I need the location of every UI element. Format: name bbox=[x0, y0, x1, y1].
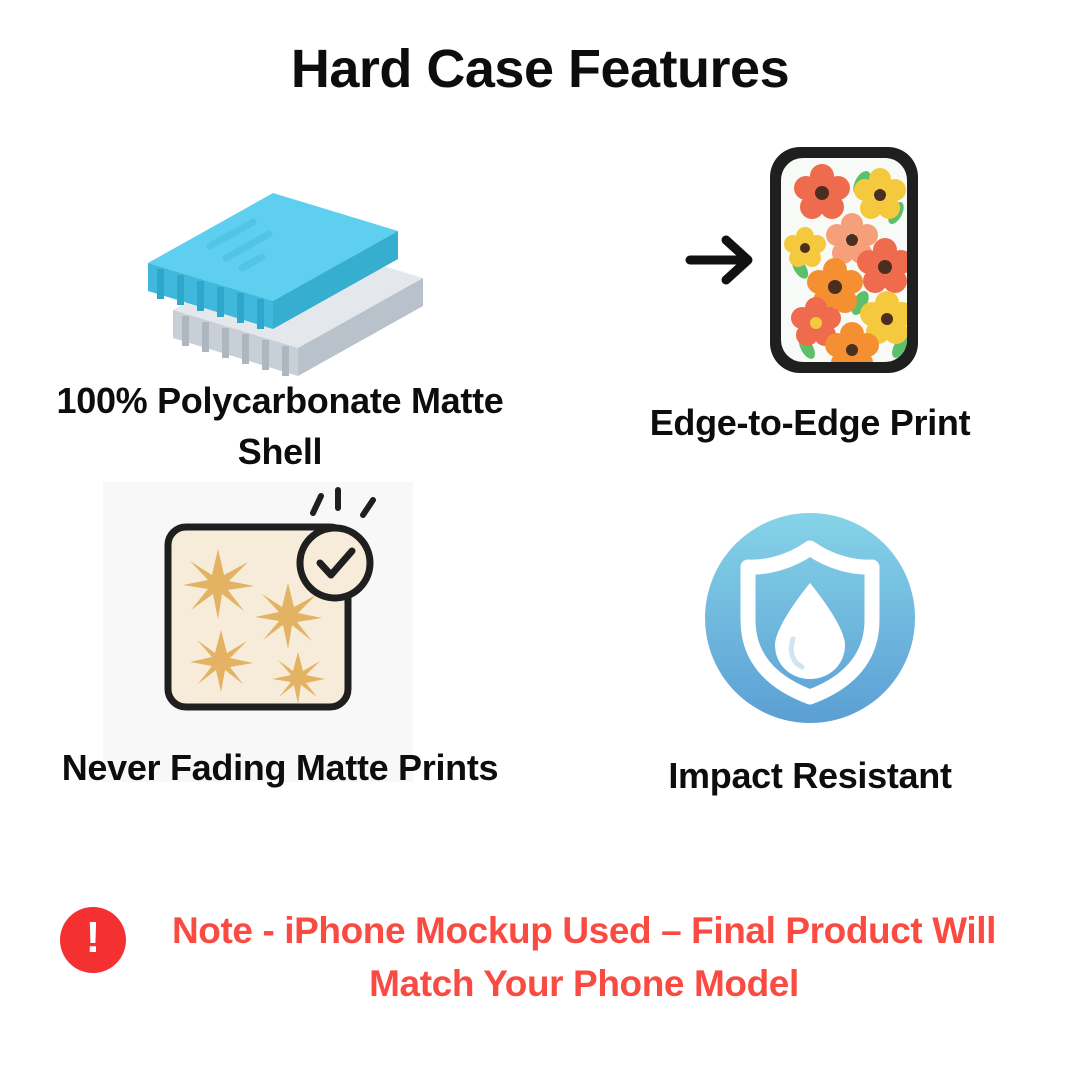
note-text: Note - iPhone Mockup Used – Final Produc… bbox=[148, 905, 1020, 1010]
exclamation-glyph: ! bbox=[86, 916, 101, 960]
layered-slabs-icon bbox=[30, 170, 530, 365]
feature-impact-resistant: Impact Resistant bbox=[560, 505, 1060, 835]
feature-never-fading-prints: Never Fading Matte Prints bbox=[30, 470, 530, 860]
arrow-right-icon bbox=[690, 240, 748, 280]
feature-label-never-fading-prints: Never Fading Matte Prints bbox=[30, 742, 530, 793]
shield-droplet-icon bbox=[560, 505, 1060, 740]
feature-polycarbonate-shell: 100% Polycarbonate Matte Shell bbox=[30, 170, 530, 500]
feature-edge-to-edge-print: Edge-to-Edge Print bbox=[560, 135, 1060, 465]
exclamation-icon: ! bbox=[60, 907, 126, 973]
shine-rays bbox=[313, 490, 373, 515]
feature-label-edge-to-edge-print: Edge-to-Edge Print bbox=[560, 397, 1060, 448]
feature-label-impact-resistant: Impact Resistant bbox=[560, 750, 1060, 801]
feature-label-polycarbonate-shell: 100% Polycarbonate Matte Shell bbox=[30, 375, 530, 477]
check-circle-badge bbox=[300, 490, 373, 598]
sparkle-check-square-icon bbox=[30, 470, 530, 735]
floral-phone-case-icon bbox=[560, 135, 1060, 385]
note-banner: ! Note - iPhone Mockup Used – Final Prod… bbox=[0, 905, 1080, 1010]
phone-case bbox=[770, 147, 918, 375]
page-title: Hard Case Features bbox=[0, 38, 1080, 100]
